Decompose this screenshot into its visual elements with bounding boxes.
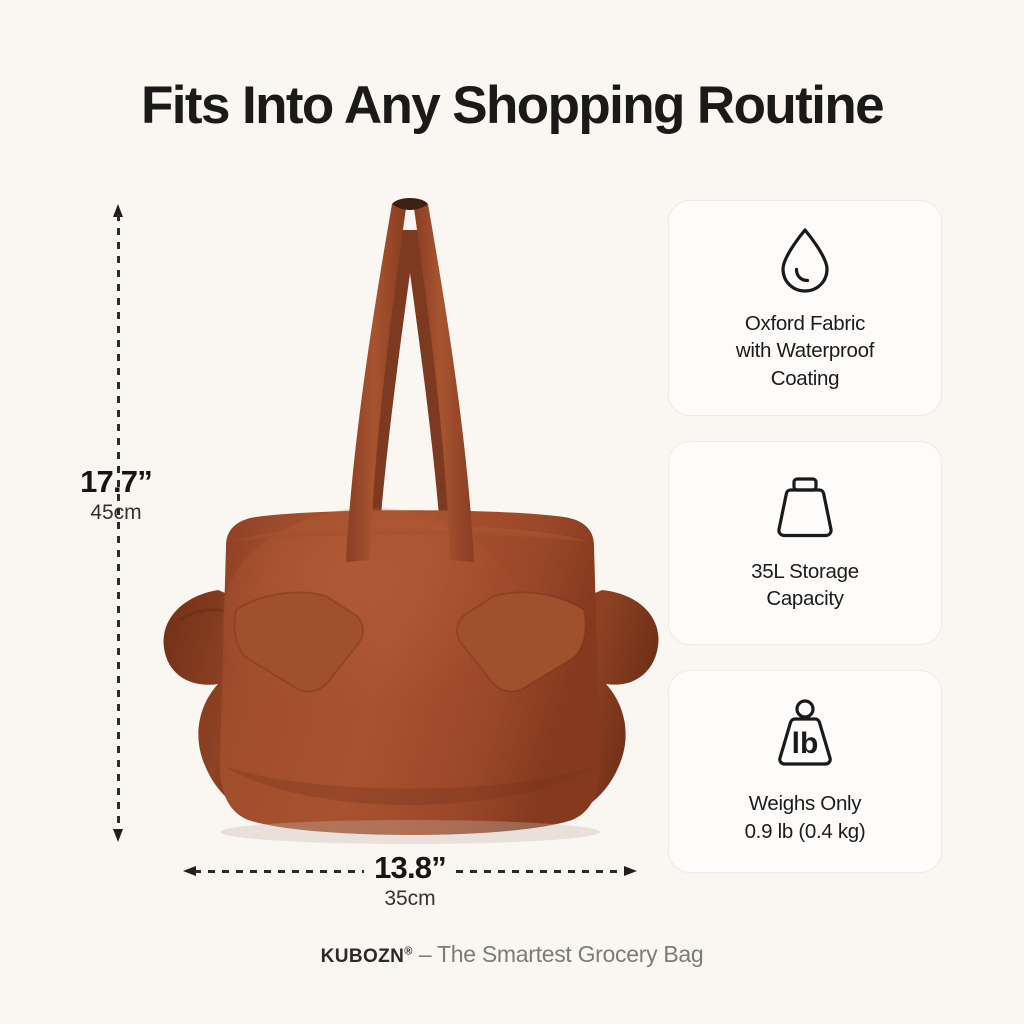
feature-card-waterproof: Oxford Fabric with Waterproof Coating: [668, 200, 942, 416]
height-dimension-label: 17.7” 45cm: [46, 466, 186, 524]
feature-line-2: Capacity: [751, 585, 859, 612]
feature-card-capacity: 35L Storage Capacity: [668, 441, 942, 645]
arrow-right-icon: [624, 866, 637, 876]
feature-card-list: Oxford Fabric with Waterproof Coating 35…: [668, 200, 942, 873]
feature-line-2: with Waterproof: [736, 337, 874, 364]
tote-bag-illustration: [140, 190, 680, 850]
brand-text: KUBOZN: [321, 946, 405, 967]
infographic-canvas: Fits Into Any Shopping Routine: [0, 0, 1024, 1024]
arrow-down-icon: [113, 829, 123, 842]
height-imperial: 17.7”: [46, 466, 186, 499]
brand-tagline: – The Smartest Grocery Bag: [413, 941, 704, 967]
feature-card-text: Oxford Fabric with Waterproof Coating: [722, 310, 888, 392]
weight-lb-icon: lb: [765, 698, 845, 776]
feature-line-3: Coating: [736, 365, 874, 392]
height-metric: 45cm: [46, 501, 186, 524]
brand-name: KUBOZN®: [321, 946, 413, 967]
brand-footer: KUBOZN® – The Smartest Grocery Bag: [0, 941, 1024, 968]
feature-line-1: Oxford Fabric: [736, 310, 874, 337]
feature-line-1: Weighs Only: [745, 790, 866, 817]
bag-capacity-icon: [766, 474, 844, 544]
water-drop-icon: [774, 224, 836, 296]
feature-card-text: 35L Storage Capacity: [737, 558, 873, 613]
registered-trademark-icon: ®: [404, 946, 413, 958]
page-title: Fits Into Any Shopping Routine: [0, 78, 1024, 134]
feature-card-text: Weighs Only 0.9 lb (0.4 kg): [731, 790, 880, 845]
width-imperial: 13.8”: [330, 852, 490, 885]
feature-line-1: 35L Storage: [751, 558, 859, 585]
weight-unit-label: lb: [792, 727, 819, 760]
width-metric: 35cm: [330, 887, 490, 910]
product-image: [140, 190, 680, 850]
feature-line-2: 0.9 lb (0.4 kg): [745, 818, 866, 845]
width-dimension-label: 13.8” 35cm: [330, 852, 490, 910]
feature-card-weight: lb Weighs Only 0.9 lb (0.4 kg): [668, 670, 942, 873]
